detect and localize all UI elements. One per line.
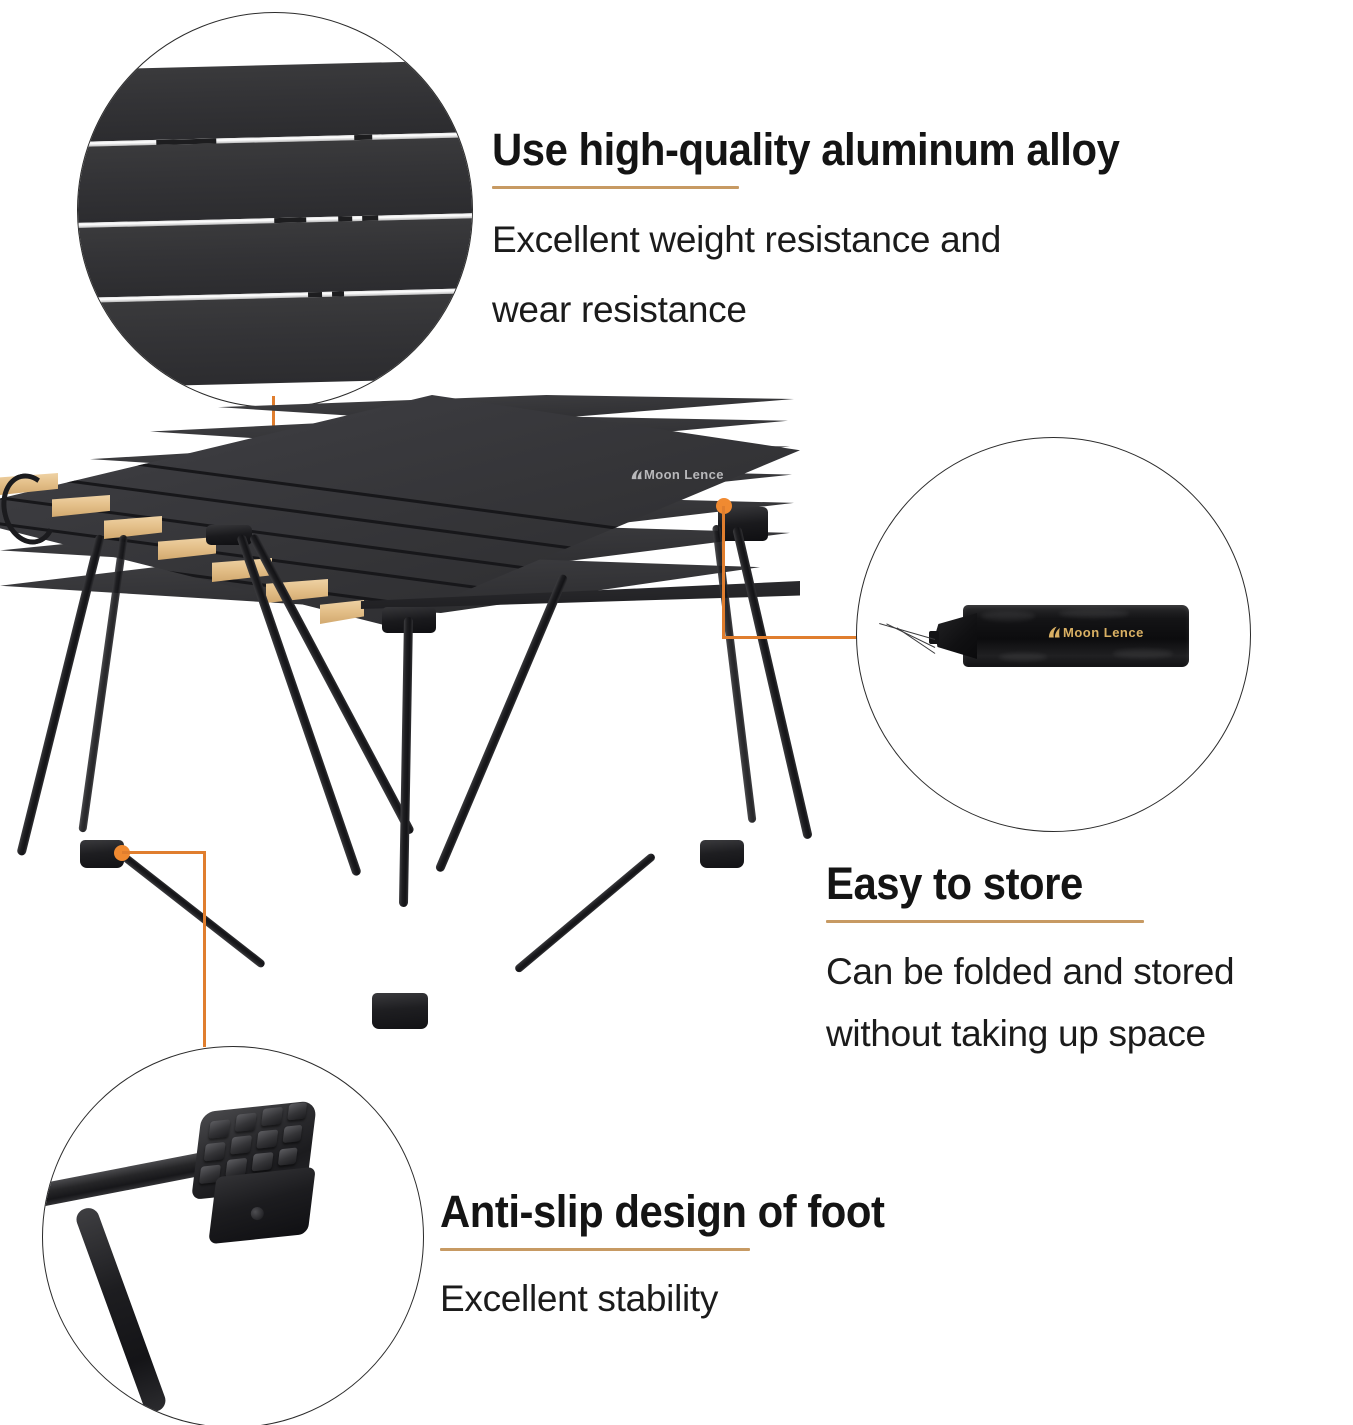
feature-aluminum-alloy: Use high-quality aluminum alloy Excellen… [492,124,1292,345]
drawstring-cord [877,637,935,671]
feature-body-line1: Can be folded and stored [826,941,1346,1003]
leg-tube-lower [73,1205,168,1415]
title-rule [492,186,739,189]
tabletop-brand-logo: Moon Lence [630,467,724,482]
bag-brand-logo: Moon Lence [1047,625,1144,640]
feature-easy-to-store: Easy to store Can be folded and stored w… [826,858,1346,1065]
leader-line-store-v [722,506,725,638]
feature-body: Excellent stability [440,1269,1060,1329]
leader-line-foot-h [122,851,206,854]
feature-title: Anti-slip design of foot [440,1186,1017,1238]
folding-table-image: Moon Lence [0,385,800,1045]
feature-title: Easy to store [826,858,1310,910]
feature-body-line1: Excellent stability [440,1269,1060,1329]
leader-line-foot-v [203,851,206,1047]
carry-bag-image: Moon Lence [929,605,1189,667]
slat-macro-image [77,12,473,408]
anti-slip-foot-circle [42,1046,424,1425]
feature-body: Can be folded and stored without taking … [826,941,1346,1065]
foot-right [700,840,744,868]
title-rule [440,1248,750,1251]
feature-anti-slip-foot: Anti-slip design of foot Excellent stabi… [440,1186,1060,1329]
title-rule [826,920,1144,923]
feature-body-line2: without taking up space [826,1003,1346,1065]
feature-body-line1: Excellent weight resistance and [492,205,1292,275]
leader-line-store-h [722,636,857,639]
foot-closeup-image [43,1047,423,1425]
tabletop-brand-name: Moon Lence [644,467,724,482]
foot-center [372,993,428,1029]
moon-lence-mark-icon [630,468,644,482]
feature-body: Excellent weight resistance and wear res… [492,205,1292,345]
storage-bag-circle: Moon Lence [856,437,1251,832]
feature-body-line2: wear resistance [492,275,1292,345]
moon-lence-mark-icon [1047,625,1062,640]
feature-title: Use high-quality aluminum alloy [492,124,1236,176]
product-infographic: Use high-quality aluminum alloy Excellen… [0,0,1353,1425]
rubber-foot-cap [188,1101,324,1253]
slat-macro-circle [77,12,473,408]
bag-brand-name: Moon Lence [1063,625,1144,640]
